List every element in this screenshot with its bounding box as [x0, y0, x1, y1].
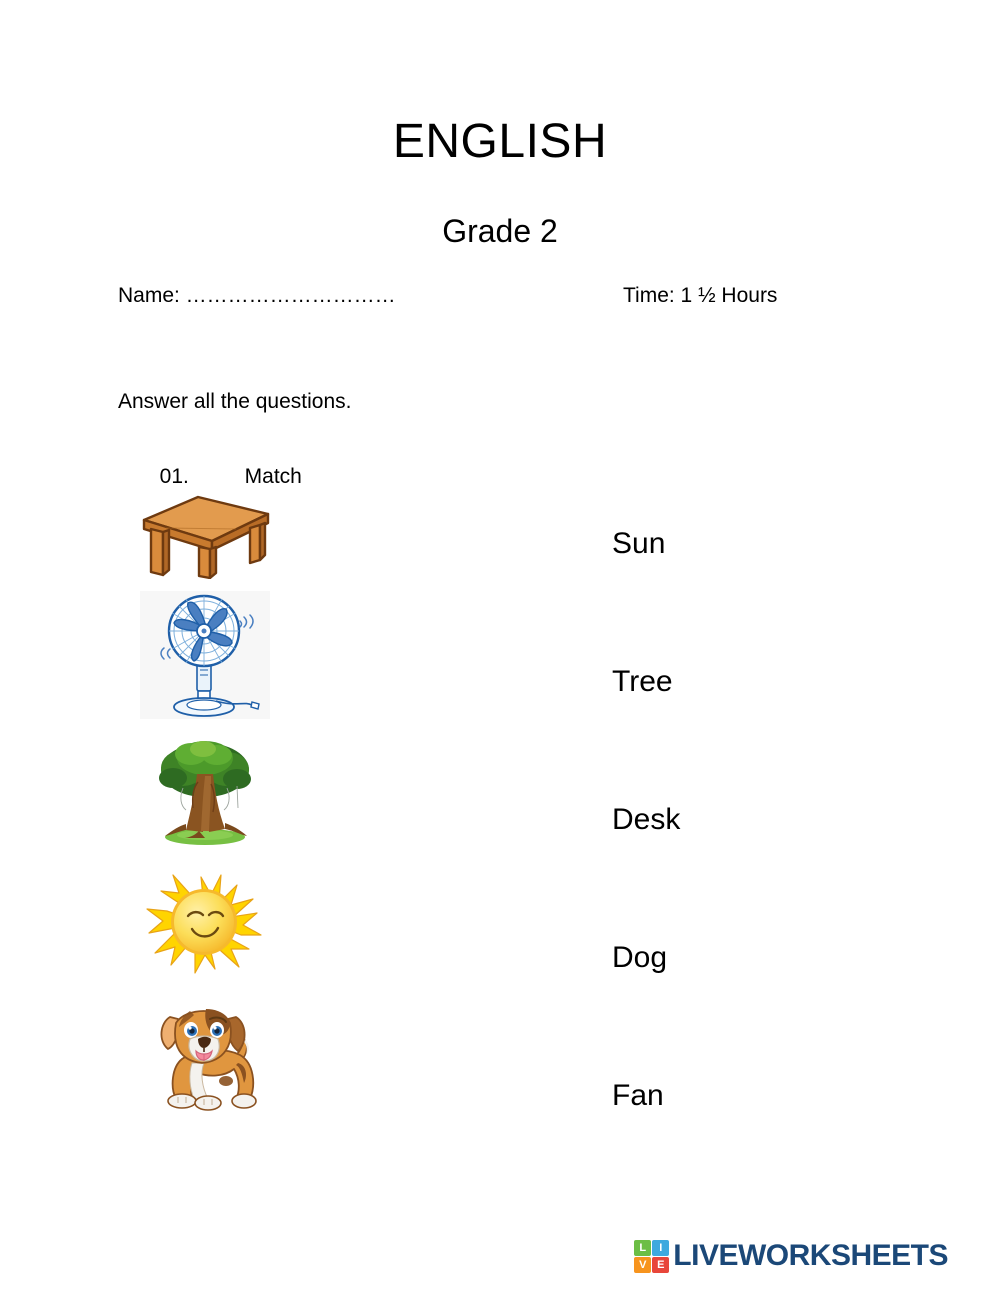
instruction-text: Answer all the questions.: [118, 390, 351, 414]
logo-tiles: L I V E: [634, 1240, 669, 1273]
word-bank-item[interactable]: Tree: [612, 613, 832, 751]
picture-item-sun[interactable]: [112, 860, 297, 990]
dog-image-box: [146, 993, 264, 1113]
time-allowed-label: Time: 1 ½ Hours: [623, 284, 777, 308]
word-bank-item[interactable]: Desk: [612, 751, 832, 889]
page-title: ENGLISH: [0, 118, 1000, 166]
meta-row: Name: ………………………… Time: 1 ½ Hours: [118, 284, 882, 316]
liveworksheets-logo[interactable]: L I V E LIVEWORKSHEETS: [634, 1239, 948, 1273]
picture-item-tree[interactable]: [112, 722, 297, 860]
picture-item-dog[interactable]: [112, 990, 297, 1115]
student-name-field[interactable]: Name: …………………………: [118, 284, 396, 308]
word-bank-column: Sun Tree Desk Dog Fan: [612, 475, 832, 1165]
word-bank-item[interactable]: Dog: [612, 889, 832, 1027]
picture-item-fan[interactable]: [112, 587, 297, 722]
sun-image-box: [145, 873, 265, 977]
desk-image-box: [136, 484, 274, 579]
logo-wordmark: LIVEWORKSHEETS: [673, 1239, 948, 1273]
tree-image-box: [153, 736, 257, 846]
logo-tile-i: I: [652, 1240, 669, 1256]
pedestal-fan-icon: [140, 591, 270, 719]
fan-image-box: [140, 591, 270, 719]
matching-exercise: Sun Tree Desk Dog Fan: [0, 475, 1000, 1115]
logo-tile-v: V: [634, 1257, 651, 1273]
logo-tile-l: L: [634, 1240, 651, 1256]
tree-icon: [153, 736, 257, 846]
desk-table-icon: [136, 484, 274, 579]
page-subtitle: Grade 2: [0, 215, 1000, 247]
picture-item-desk[interactable]: [112, 475, 297, 587]
dog-icon: [146, 993, 264, 1113]
sun-icon: [145, 873, 265, 977]
word-bank-item[interactable]: Fan: [612, 1027, 832, 1165]
logo-tile-e: E: [652, 1257, 669, 1273]
word-bank-item[interactable]: Sun: [612, 475, 832, 613]
picture-column: [112, 475, 297, 1115]
